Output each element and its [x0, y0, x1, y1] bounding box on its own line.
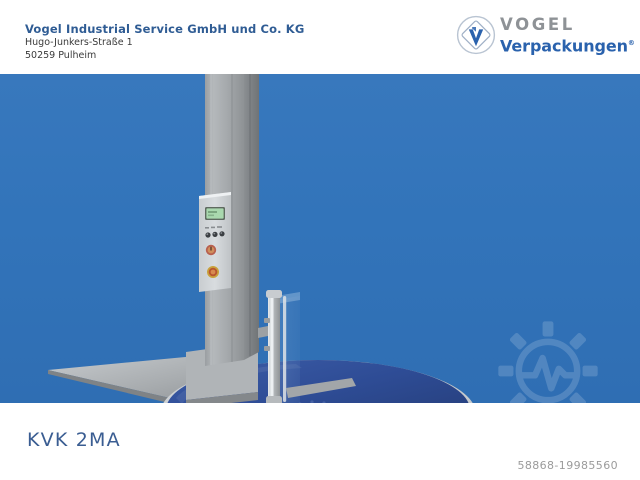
product-image-card: Vogel Industrial Service GmbH und Co. KG… — [0, 0, 640, 480]
company-name: Vogel Industrial Service GmbH und Co. KG — [25, 22, 304, 37]
product-model-name: KVK 2MA — [27, 429, 121, 451]
company-address-line2: 50259 Pulheim — [25, 50, 304, 63]
gear-pulse-watermark-icon — [494, 317, 602, 403]
logo-word-vogel: VOGEL — [500, 16, 635, 34]
header-bar: Vogel Industrial Service GmbH und Co. KG… — [0, 0, 640, 74]
logo-word-verpackungen: Verpackungen® — [500, 34, 635, 55]
article-number: 58868-19985560 — [517, 459, 618, 472]
vogel-verpackungen-logo: VOGEL Verpackungen® — [456, 11, 622, 59]
company-info: Vogel Industrial Service GmbH und Co. KG… — [25, 22, 304, 62]
registered-mark: ® — [628, 39, 635, 47]
company-address-line1: Hugo-Junkers-Straße 1 — [25, 37, 304, 50]
vogel-diamond-v-icon — [456, 15, 496, 55]
logo-wordmark: VOGEL Verpackungen® — [500, 16, 635, 55]
photo-stage-background — [0, 73, 640, 403]
logo-verpackungen-text: Verpackungen — [500, 36, 628, 55]
footer-bar: KVK 2MA 58868-19985560 — [0, 403, 640, 480]
